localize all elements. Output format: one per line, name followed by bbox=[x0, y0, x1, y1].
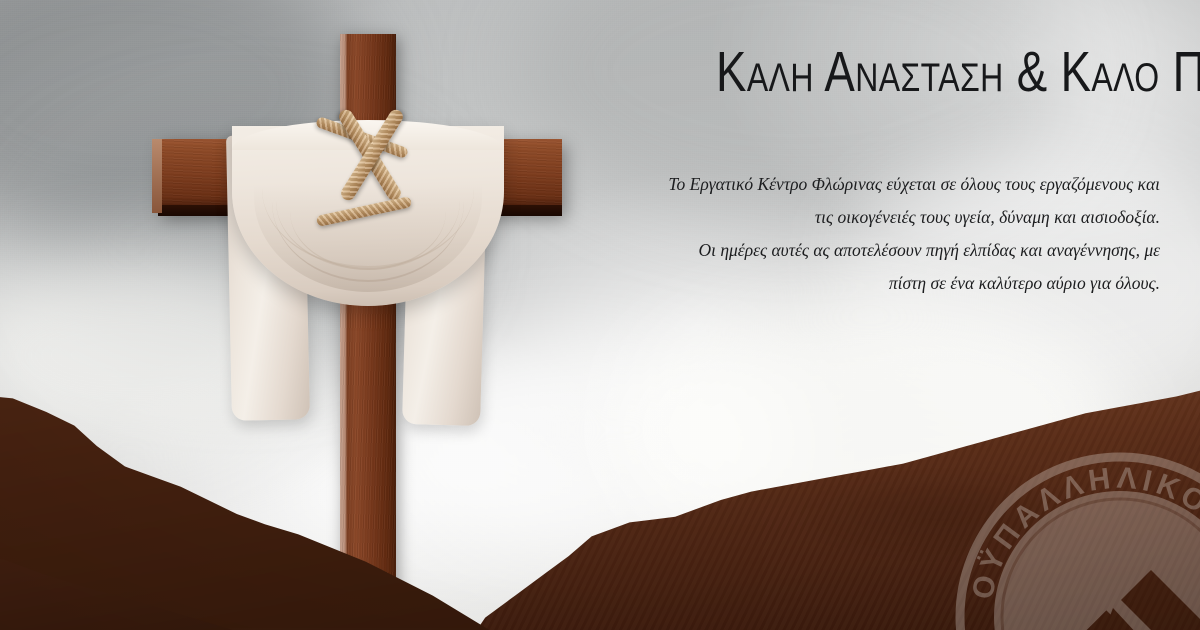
message-line: Οι ημέρες αυτές ας αποτελέσουν πηγή ελπί… bbox=[560, 234, 1160, 267]
rope-tie bbox=[318, 128, 428, 230]
rope-strand bbox=[316, 196, 412, 227]
greeting-message: Το Εργατικό Κέντρο Φλώρινας εύχεται σε ό… bbox=[560, 168, 1160, 300]
message-line: Το Εργατικό Κέντρο Φλώρινας εύχεται σε ό… bbox=[560, 168, 1160, 201]
message-line: πίστη σε ένα καλύτερο αύριο για όλους. bbox=[560, 267, 1160, 300]
easter-greeting-banner: ΟΫΠΑΛΛΗΛΙΚΟ ΚΕ Καλη Ανασταση & Καλο Πασχ… bbox=[0, 0, 1200, 630]
page-title: Καλη Ανασταση & Καλο Πασχα bbox=[716, 44, 1180, 101]
message-line: τις οικογένειές τους υγεία, δύναμη και α… bbox=[560, 201, 1160, 234]
